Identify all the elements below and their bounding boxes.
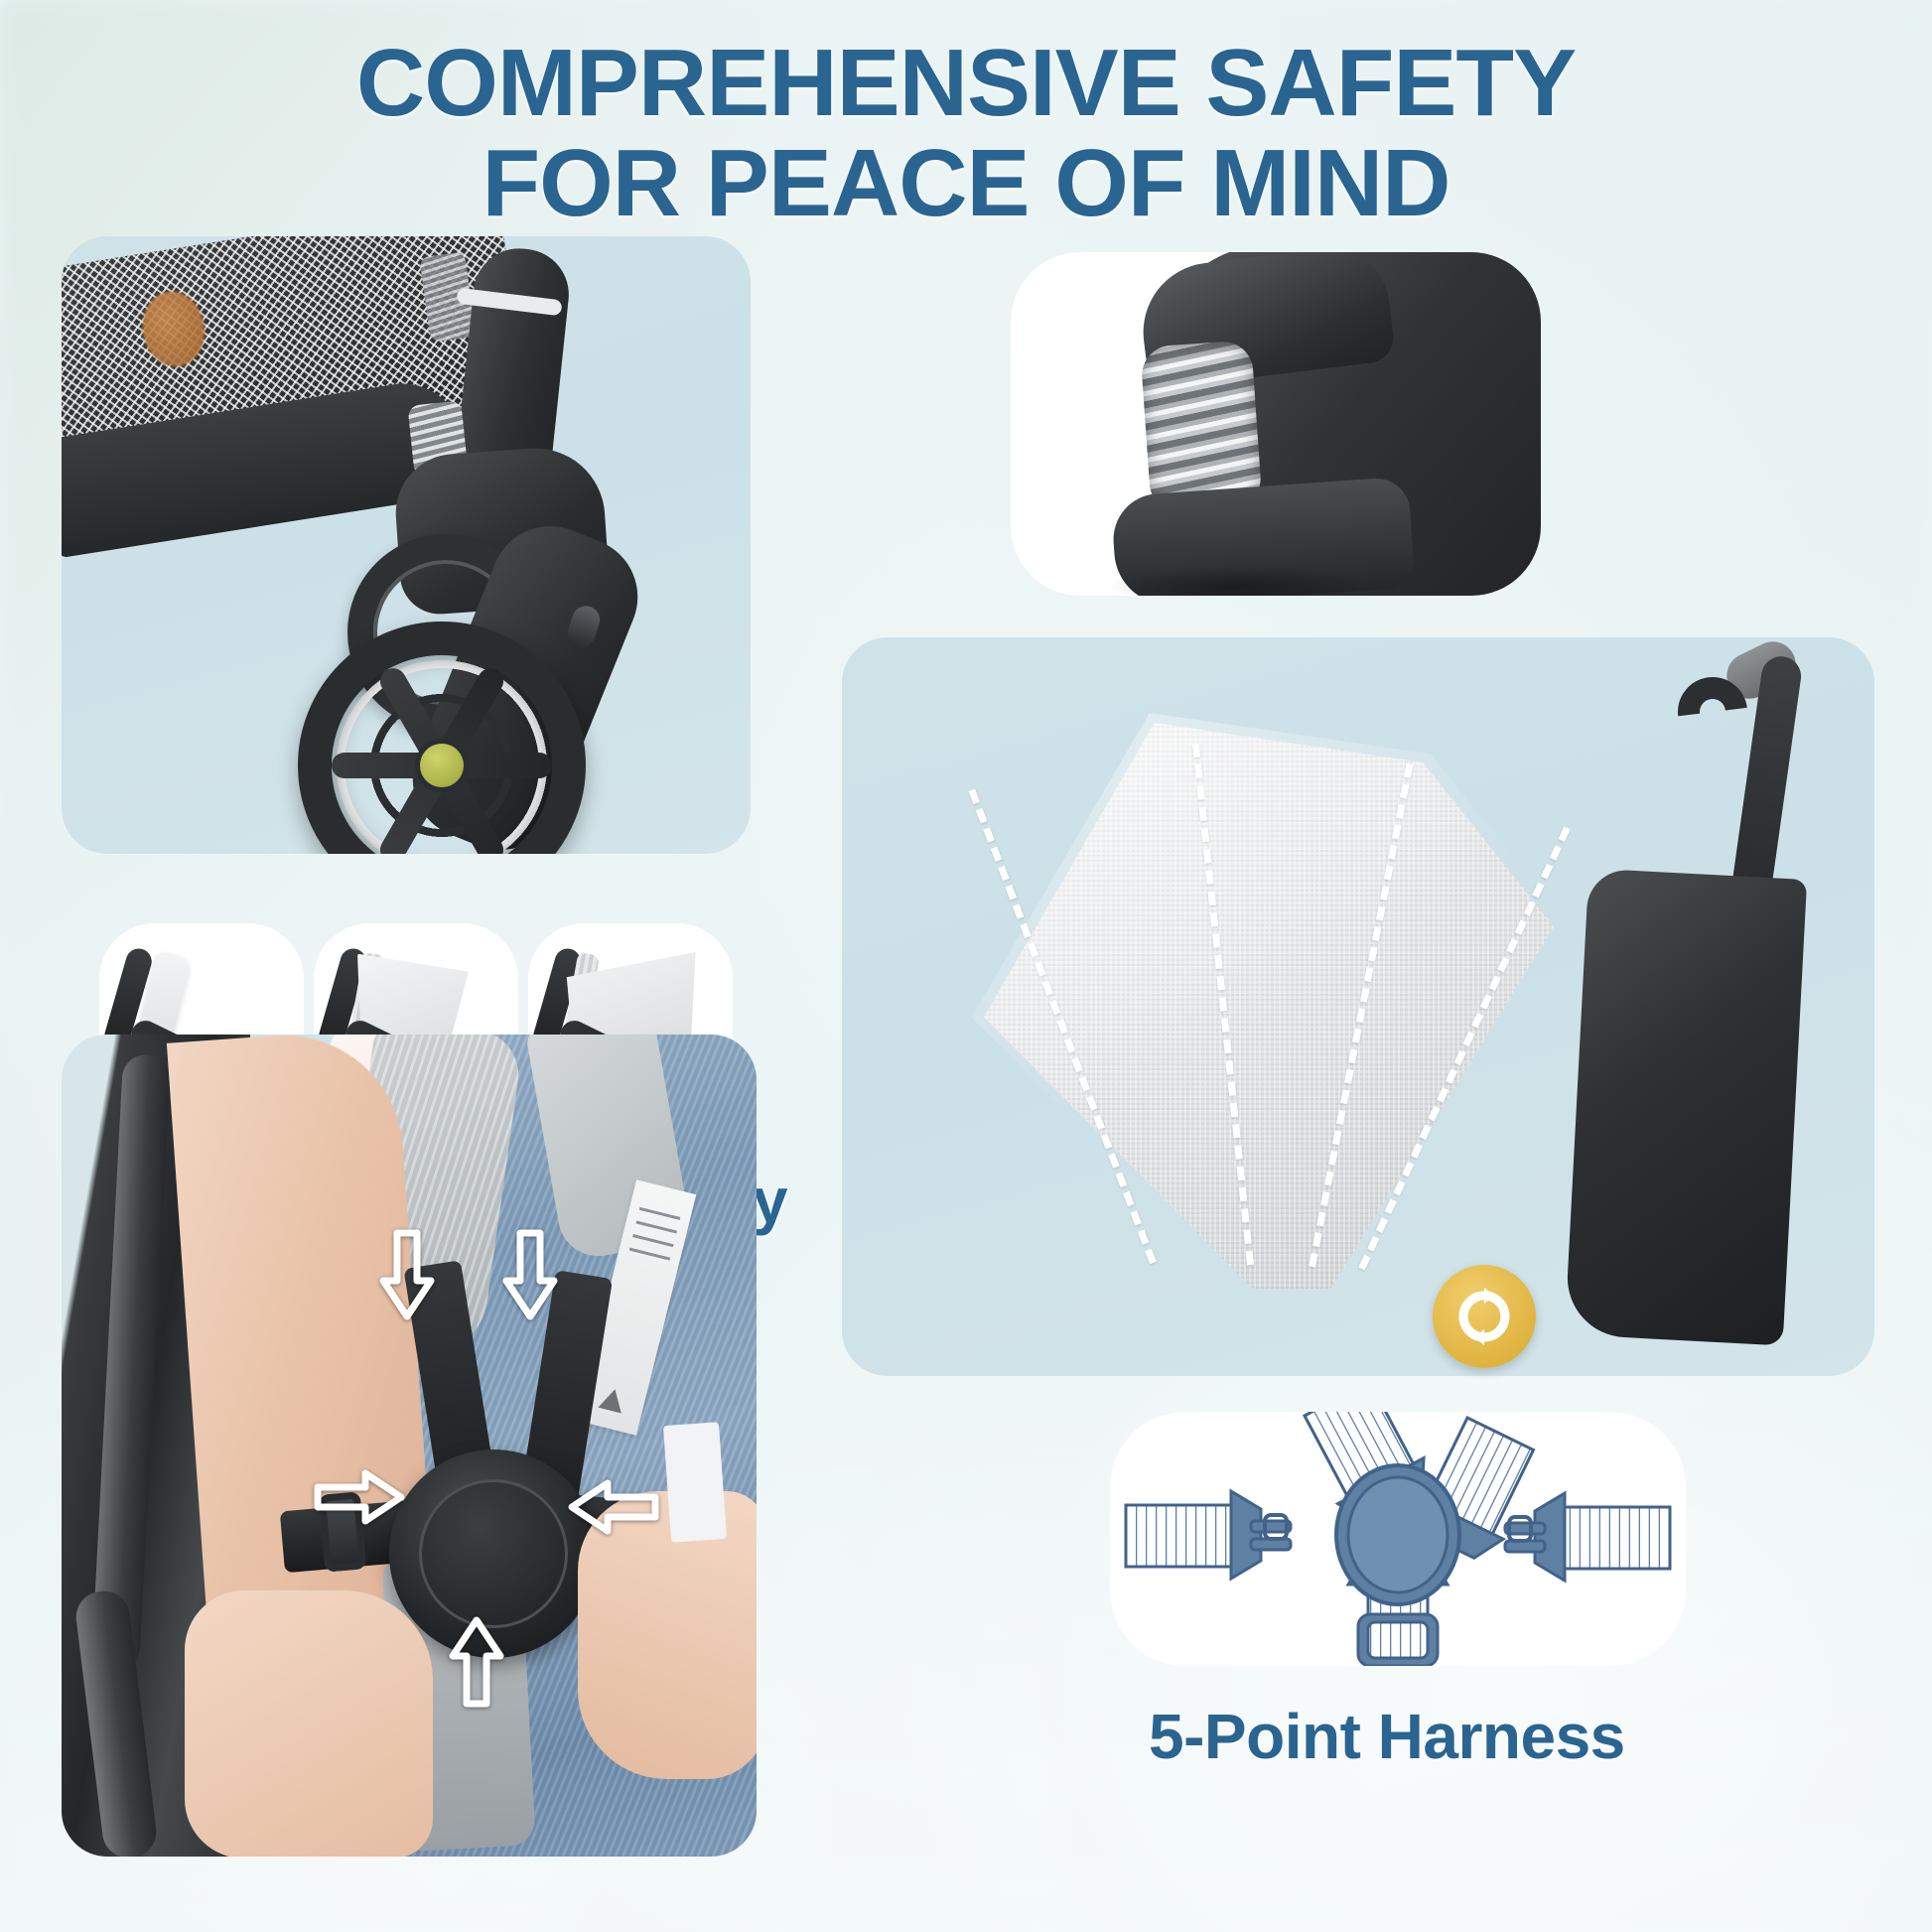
rotate-refresh-icon: [1452, 1285, 1516, 1348]
canopy-rotate-badge[interactable]: [1433, 1265, 1536, 1368]
wheel-photo-panel: [62, 236, 751, 854]
harness-photo-panel: [62, 1035, 757, 1857]
adult-hand-left: [185, 1590, 433, 1857]
arrow-icon: [445, 1616, 508, 1708]
fabric-tag: [663, 1422, 727, 1543]
arrow-icon: [568, 1475, 659, 1539]
canopy-highlight: [937, 713, 1622, 1299]
basket-accent-dot: [137, 287, 209, 371]
suspension-shadow: [1108, 566, 1366, 596]
arrow-icon: [375, 1229, 439, 1320]
stroller-seat-back: [1565, 869, 1807, 1346]
five-point-harness-diagram: [1110, 1412, 1686, 1666]
harness-diagram-card: [1110, 1412, 1686, 1666]
page-title: COMPREHENSIVE SAFETY FOR PEACE OF MIND: [0, 34, 1932, 234]
wheel-axle-cap: [420, 744, 464, 787]
suspension-inset-card: [1011, 252, 1541, 596]
canopy-photo-panel: [842, 637, 1874, 1376]
arrow-icon: [498, 1229, 562, 1320]
page-title-line-2: FOR PEACE OF MIND: [0, 134, 1932, 234]
arrow-icon: [314, 1465, 405, 1529]
caption-five-point-harness: 5-Point Harness: [1149, 1700, 1625, 1773]
harness-strap-right: [1505, 1493, 1670, 1581]
page-title-line-1: COMPREHENSIVE SAFETY: [356, 30, 1576, 136]
infographic-root: COMPREHENSIVE SAFETY FOR PEACE OF MIND A…: [0, 0, 1932, 1932]
harness-strap-left: [1126, 1491, 1291, 1579]
harness-center-buckle: [1336, 1465, 1459, 1604]
warning-triangle-icon: [599, 1386, 627, 1413]
